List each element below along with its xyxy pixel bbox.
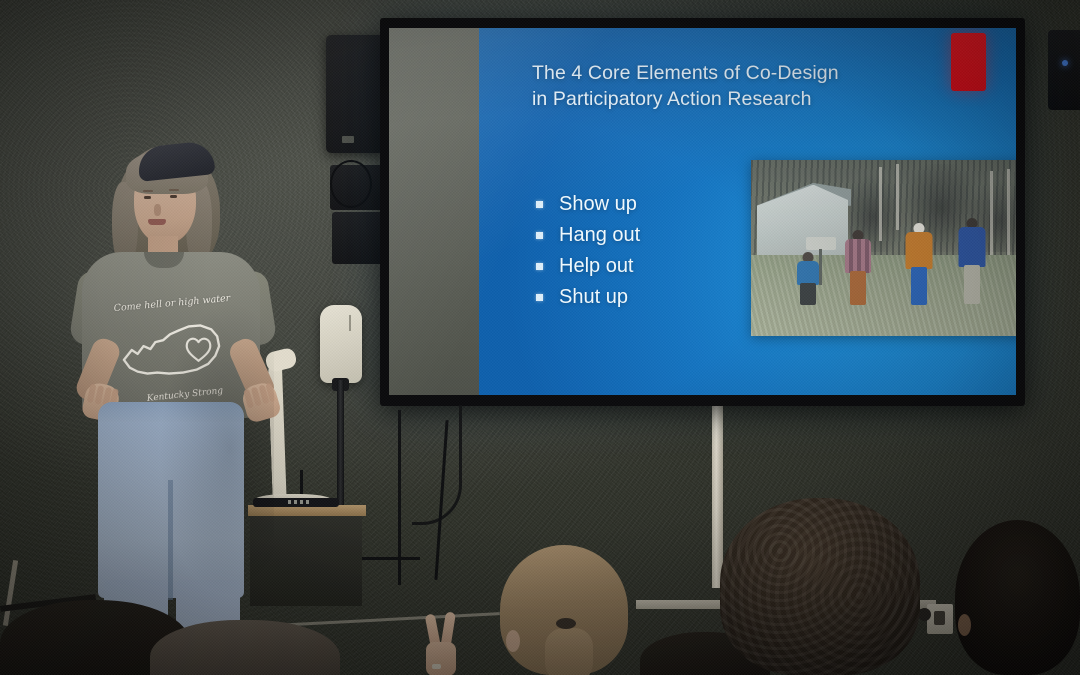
presentation-room-scene: The 4 Core Elements of Co-Design in Part…	[0, 0, 1080, 675]
scene-vignette	[0, 0, 1080, 675]
